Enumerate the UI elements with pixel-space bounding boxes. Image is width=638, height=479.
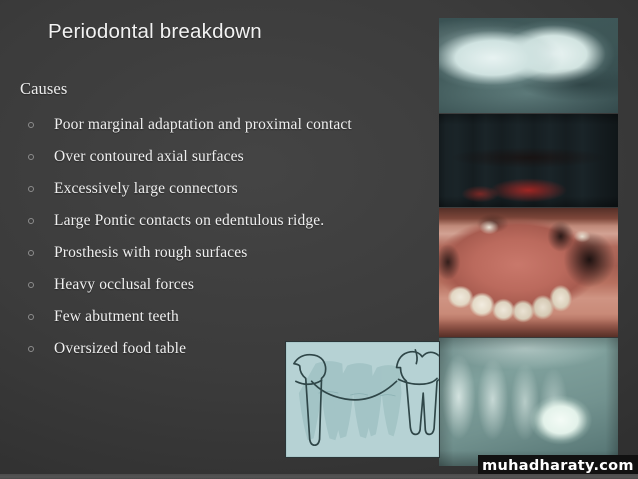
- hollow-circle-bullet-icon: [28, 282, 34, 288]
- radiograph-image: [439, 338, 618, 466]
- list-item-label: Poor marginal adaptation and proximal co…: [54, 116, 352, 133]
- clinical-photo-image: [439, 208, 618, 337]
- watermark-text: muhadharaty.com: [482, 458, 634, 474]
- list-item-label: Oversized food table: [54, 340, 186, 357]
- list-item-label: Prosthesis with rough surfaces: [54, 244, 248, 261]
- periapical-radiograph-crowns: [439, 18, 618, 113]
- list-item: Heavy occlusal forces: [22, 269, 422, 301]
- list-item: Prosthesis with rough surfaces: [22, 237, 422, 269]
- list-item-label: Heavy occlusal forces: [54, 276, 194, 293]
- presentation-slide: Periodontal breakdown Causes Poor margin…: [0, 0, 638, 479]
- slide-title: Periodontal breakdown: [48, 20, 428, 45]
- list-item: Large Pontic contacts on edentulous ridg…: [22, 205, 422, 237]
- fixed-bridge-line-diagram: [285, 341, 440, 458]
- hollow-circle-bullet-icon: [28, 346, 34, 352]
- clinical-photo-image: [439, 114, 618, 207]
- ghost-teeth-group: [299, 361, 402, 440]
- hollow-circle-bullet-icon: [28, 186, 34, 192]
- list-item-label: Over contoured axial surfaces: [54, 148, 244, 165]
- hollow-circle-bullet-icon: [28, 154, 34, 160]
- intraoral-lateral-tongue: [439, 208, 618, 337]
- radiograph-image: [439, 18, 618, 113]
- hollow-circle-bullet-icon: [28, 314, 34, 320]
- causes-bullet-list: Poor marginal adaptation and proximal co…: [22, 109, 422, 365]
- bridge-diagram-svg: [286, 342, 439, 457]
- hollow-circle-bullet-icon: [28, 122, 34, 128]
- list-item: Over contoured axial surfaces: [22, 141, 422, 173]
- slide-bottom-edge: [0, 474, 638, 479]
- intraoral-anterior-gingivitis: [439, 114, 618, 207]
- list-item: Poor marginal adaptation and proximal co…: [22, 109, 422, 141]
- right-abutment-tooth: [397, 350, 439, 435]
- list-item-label: Large Pontic contacts on edentulous ridg…: [54, 212, 324, 229]
- hollow-circle-bullet-icon: [28, 218, 34, 224]
- causes-heading: Causes: [20, 79, 67, 99]
- list-item-label: Few abutment teeth: [54, 308, 179, 325]
- bitewing-radiograph-restoration: [439, 338, 618, 466]
- list-item-label: Excessively large connectors: [54, 180, 238, 197]
- hollow-circle-bullet-icon: [28, 250, 34, 256]
- list-item: Few abutment teeth: [22, 301, 422, 333]
- list-item: Excessively large connectors: [22, 173, 422, 205]
